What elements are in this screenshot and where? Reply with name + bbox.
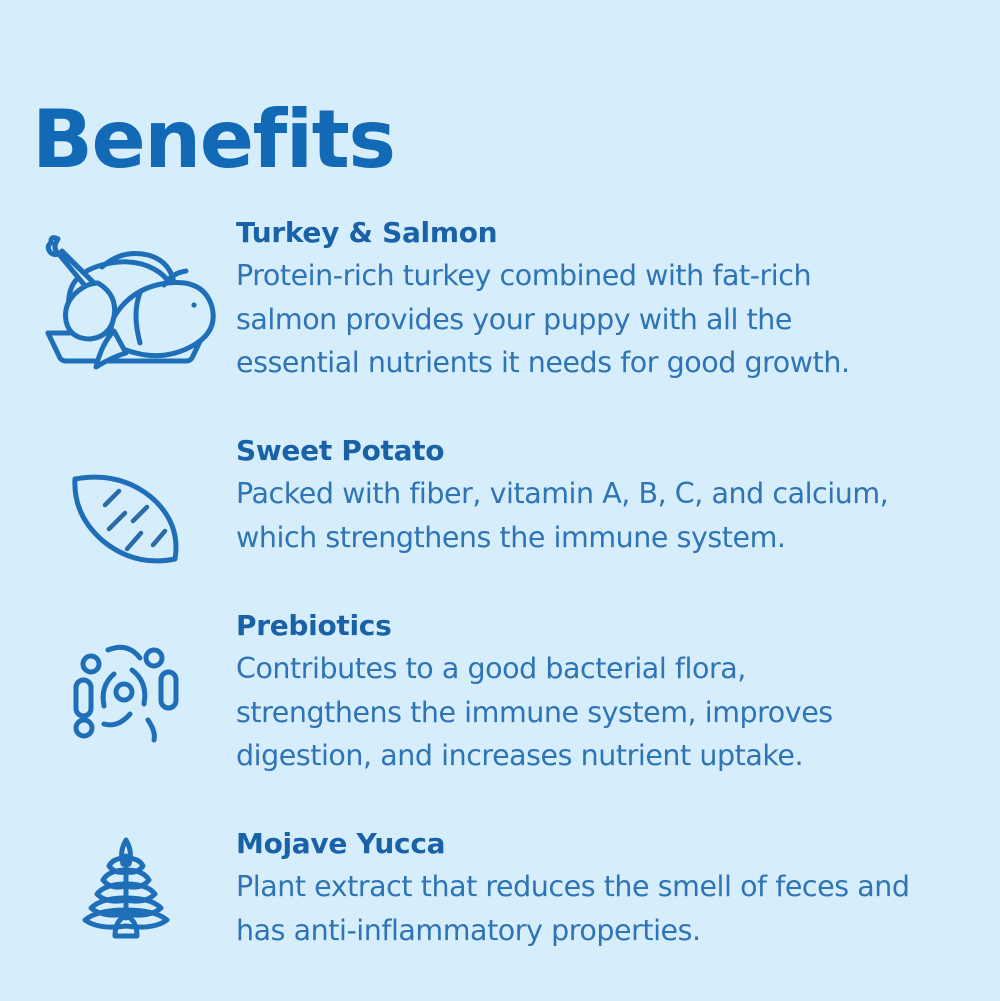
benefit-body: Contributes to a good bacterial flora, s… [236,647,964,778]
benefit-list: Turkey & Salmon Protein-rich turkey comb… [0,215,1000,1001]
turkey-salmon-platter-icon [16,215,236,371]
benefit-heading: Sweet Potato [236,433,964,469]
benefit-item-sweet-potato: Sweet Potato Packed with fiber, vitamin … [0,433,1000,608]
benefit-text-mojave-yucca: Mojave Yucca Plant extract that reduces … [236,826,1000,952]
page-title: Benefits [32,97,395,183]
benefit-text-prebiotics: Prebiotics Contributes to a good bacteri… [236,608,1000,778]
benefit-item-turkey-salmon: Turkey & Salmon Protein-rich turkey comb… [0,215,1000,433]
benefit-body: Plant extract that reduces the smell of … [236,865,964,952]
benefit-body: Protein-rich turkey combined with fat-ri… [236,254,964,385]
benefits-page: Benefits [0,0,1000,1000]
benefit-item-mojave-yucca: Mojave Yucca Plant extract that reduces … [0,826,1000,1001]
yucca-plant-icon [16,826,236,944]
benefit-heading: Prebiotics [236,608,964,644]
benefit-heading: Mojave Yucca [236,826,964,862]
benefit-text-turkey-salmon: Turkey & Salmon Protein-rich turkey comb… [236,215,1000,385]
benefit-body: Packed with fiber, vitamin A, B, C, and … [236,472,964,559]
benefit-heading: Turkey & Salmon [236,215,964,251]
benefit-item-prebiotics: Prebiotics Contributes to a good bacteri… [0,608,1000,826]
prebiotics-bacteria-icon [16,608,236,748]
sweet-potato-icon [16,433,236,567]
benefit-text-sweet-potato: Sweet Potato Packed with fiber, vitamin … [236,433,1000,559]
